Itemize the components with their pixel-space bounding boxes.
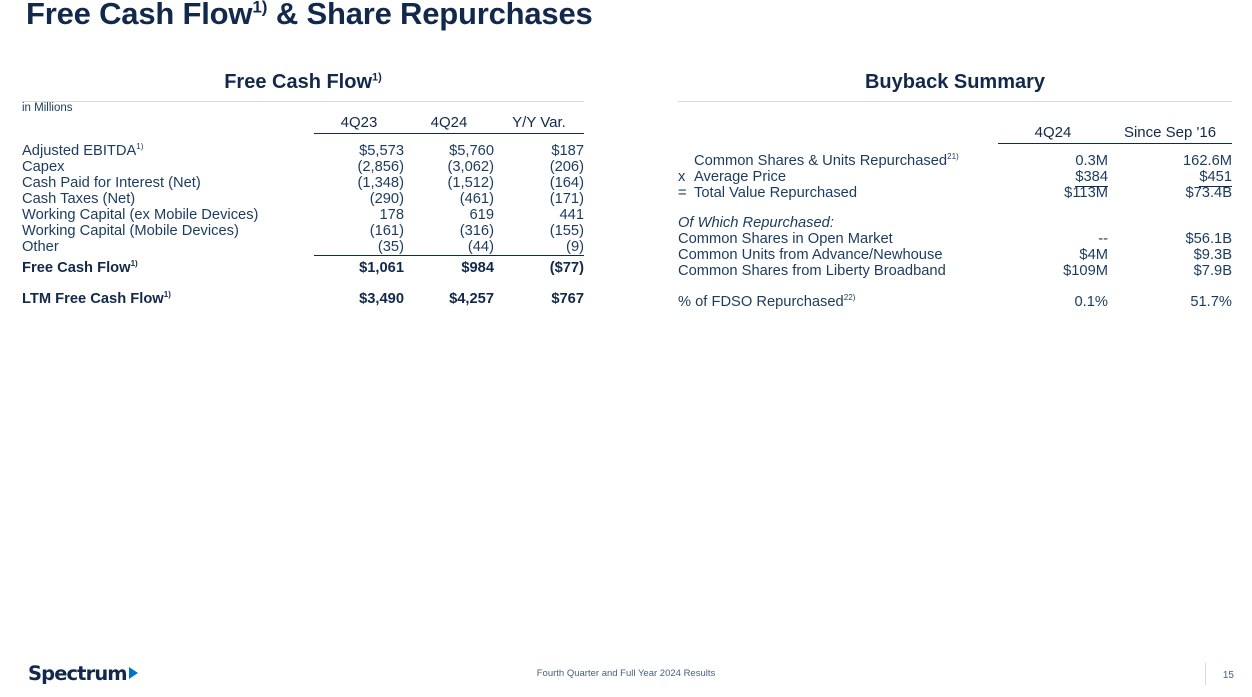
cell-value: 0.1% bbox=[998, 293, 1108, 310]
free-cash-flow-heading-footnote-marker: 1) bbox=[372, 71, 382, 83]
table-row: Common Shares in Open Market -- $56.1B bbox=[678, 231, 1232, 247]
free-cash-flow-heading: Free Cash Flow1) bbox=[22, 70, 584, 98]
slide-footer: Spectrum Fourth Quarter and Full Year 20… bbox=[0, 642, 1252, 697]
row-label-ltm-free-cash-flow: LTM Free Cash Flow1) bbox=[22, 290, 314, 307]
buyback-summary-table: 4Q24 Since Sep '16 Common Shares & Units… bbox=[678, 102, 1232, 310]
table-row: Working Capital (ex Mobile Devices) 178 … bbox=[22, 207, 584, 223]
cell-value: 51.7% bbox=[1108, 293, 1232, 310]
of-which-repurchased-label: Of Which Repurchased: bbox=[678, 215, 998, 231]
spacer-row bbox=[678, 102, 1232, 124]
cell-value: (164) bbox=[494, 175, 584, 191]
row-operator-equals: = bbox=[678, 185, 694, 201]
cell-value: $7.9B bbox=[1108, 263, 1232, 279]
table-row: Common Units from Advance/Newhouse $4M $… bbox=[678, 247, 1232, 263]
cell-value: (290) bbox=[314, 191, 404, 207]
table-row: Working Capital (Mobile Devices) (161) (… bbox=[22, 223, 584, 239]
cell-value: $451 bbox=[1108, 169, 1232, 185]
row-label-capex: Capex bbox=[22, 159, 314, 175]
column-header-4q24: 4Q24 bbox=[404, 114, 494, 134]
row-label-adjusted-ebitda: Adjusted EBITDA1) bbox=[22, 142, 314, 159]
table-row: Common Shares from Liberty Broadband $10… bbox=[678, 263, 1232, 279]
cell-value: 619 bbox=[404, 207, 494, 223]
cell-value: $4M bbox=[998, 247, 1108, 263]
cell-value: 162.6M bbox=[1108, 152, 1232, 169]
table-row: Other (35) (44) (9) bbox=[22, 239, 584, 256]
page-title-part2: & Share Repurchases bbox=[267, 0, 592, 31]
cell-value: -- bbox=[998, 231, 1108, 247]
table-units-row: in Millions bbox=[22, 102, 584, 114]
table-header-row: 4Q23 4Q24 Y/Y Var. bbox=[22, 114, 584, 134]
cell-value: $9.3B bbox=[1108, 247, 1232, 263]
spacer-row bbox=[22, 276, 584, 290]
row-label-common-shares-open-market: Common Shares in Open Market bbox=[678, 231, 998, 247]
cell-value: (1,512) bbox=[404, 175, 494, 191]
footer-caption: Fourth Quarter and Full Year 2024 Result… bbox=[0, 668, 1252, 679]
row-label-common-shares-units-repurchased: Common Shares & Units Repurchased21) bbox=[678, 152, 998, 169]
row-label-total-value-repurchased: =Total Value Repurchased bbox=[678, 185, 998, 201]
column-header-yy-var: Y/Y Var. bbox=[494, 114, 584, 134]
cell-value: $3,490 bbox=[314, 290, 404, 307]
column-header-4q23: 4Q23 bbox=[314, 114, 404, 134]
row-label-working-capital-ex-mobile: Working Capital (ex Mobile Devices) bbox=[22, 207, 314, 223]
column-header-since-sep-16: Since Sep '16 bbox=[1108, 124, 1232, 144]
footer-divider bbox=[1205, 663, 1206, 685]
table-header-row: 4Q24 Since Sep '16 bbox=[678, 124, 1232, 144]
page-title-part1: Free Cash Flow bbox=[26, 0, 252, 31]
row-label-common-units-advance-newhouse: Common Units from Advance/Newhouse bbox=[678, 247, 998, 263]
table-row-subtotal: Free Cash Flow1) $1,061 $984 ($77) bbox=[22, 255, 584, 276]
cell-value: (35) bbox=[314, 239, 404, 256]
cell-value: $984 bbox=[404, 255, 494, 276]
spacer-row bbox=[678, 201, 1232, 215]
cell-value: (316) bbox=[404, 223, 494, 239]
table-row: Capex (2,856) (3,062) (206) bbox=[22, 159, 584, 175]
free-cash-flow-table: in Millions 4Q23 4Q24 Y/Y Var. Adjusted … bbox=[22, 102, 584, 307]
row-label-other: Other bbox=[22, 239, 314, 256]
column-header-4q24: 4Q24 bbox=[998, 124, 1108, 144]
spacer-row bbox=[678, 279, 1232, 293]
row-label-cash-taxes: Cash Taxes (Net) bbox=[22, 191, 314, 207]
cell-value: $109M bbox=[998, 263, 1108, 279]
row-label-free-cash-flow: Free Cash Flow1) bbox=[22, 255, 314, 276]
table-row: xAverage Price $384 $451 bbox=[678, 169, 1232, 185]
table-row: Cash Paid for Interest (Net) (1,348) (1,… bbox=[22, 175, 584, 191]
row-label-common-shares-liberty-broadband: Common Shares from Liberty Broadband bbox=[678, 263, 998, 279]
table-row-section-header: Of Which Repurchased: bbox=[678, 215, 1232, 231]
row-label-average-price: xAverage Price bbox=[678, 169, 998, 185]
table-row: =Total Value Repurchased $113M $73.4B bbox=[678, 185, 1232, 201]
table-row: Cash Taxes (Net) (290) (461) (171) bbox=[22, 191, 584, 207]
buyback-summary-heading: Buyback Summary bbox=[678, 70, 1232, 98]
free-cash-flow-heading-text: Free Cash Flow bbox=[224, 71, 372, 93]
cell-value: $5,573 bbox=[314, 142, 404, 159]
footnote-marker: 1) bbox=[164, 290, 171, 299]
footnote-marker: 1) bbox=[131, 259, 138, 268]
cell-value: $113M bbox=[998, 185, 1108, 201]
footnote-marker: 22) bbox=[844, 293, 856, 302]
table-row: Adjusted EBITDA1) $5,573 $5,760 $187 bbox=[22, 142, 584, 159]
table-row: Common Shares & Units Repurchased21) 0.3… bbox=[678, 152, 1232, 169]
units-label: in Millions bbox=[22, 102, 314, 114]
cell-value: $5,760 bbox=[404, 142, 494, 159]
row-label-pct-fdso-repurchased: % of FDSO Repurchased22) bbox=[678, 293, 998, 310]
page-number: 15 bbox=[1223, 670, 1234, 681]
cell-value: (3,062) bbox=[404, 159, 494, 175]
table-row-ltm: LTM Free Cash Flow1) $3,490 $4,257 $767 bbox=[22, 290, 584, 307]
cell-value: $73.4B bbox=[1108, 185, 1232, 201]
page-title: Free Cash Flow1) & Share Repurchases bbox=[26, 0, 593, 32]
cell-value: $187 bbox=[494, 142, 584, 159]
cell-value: 0.3M bbox=[998, 152, 1108, 169]
cell-value: $56.1B bbox=[1108, 231, 1232, 247]
cell-value: 178 bbox=[314, 207, 404, 223]
cell-value: $4,257 bbox=[404, 290, 494, 307]
cell-value: ($77) bbox=[494, 255, 584, 276]
cell-value: (161) bbox=[314, 223, 404, 239]
cell-value: $384 bbox=[998, 169, 1108, 185]
page-title-footnote-marker: 1) bbox=[252, 0, 267, 17]
cell-value: (171) bbox=[494, 191, 584, 207]
table-row: % of FDSO Repurchased22) 0.1% 51.7% bbox=[678, 293, 1232, 310]
cell-value: (206) bbox=[494, 159, 584, 175]
cell-value: $1,061 bbox=[314, 255, 404, 276]
cell-value: $767 bbox=[494, 290, 584, 307]
cell-value: (155) bbox=[494, 223, 584, 239]
row-label-cash-paid-for-interest: Cash Paid for Interest (Net) bbox=[22, 175, 314, 191]
row-operator-multiply: x bbox=[678, 169, 694, 185]
cell-value: (1,348) bbox=[314, 175, 404, 191]
spacer-row bbox=[22, 134, 584, 142]
cell-value: (461) bbox=[404, 191, 494, 207]
row-label-working-capital-mobile: Working Capital (Mobile Devices) bbox=[22, 223, 314, 239]
buyback-summary-panel: Buyback Summary 4Q24 Since Sep '16 Commo… bbox=[678, 70, 1232, 310]
cell-value: (2,856) bbox=[314, 159, 404, 175]
spacer-row bbox=[678, 144, 1232, 152]
footnote-marker: 1) bbox=[136, 142, 143, 151]
footnote-marker: 21) bbox=[947, 152, 959, 161]
cell-value: 441 bbox=[494, 207, 584, 223]
cell-value: (9) bbox=[494, 239, 584, 256]
free-cash-flow-panel: Free Cash Flow1) in Millions 4Q23 4Q24 Y… bbox=[22, 70, 584, 307]
cell-value: (44) bbox=[404, 239, 494, 256]
